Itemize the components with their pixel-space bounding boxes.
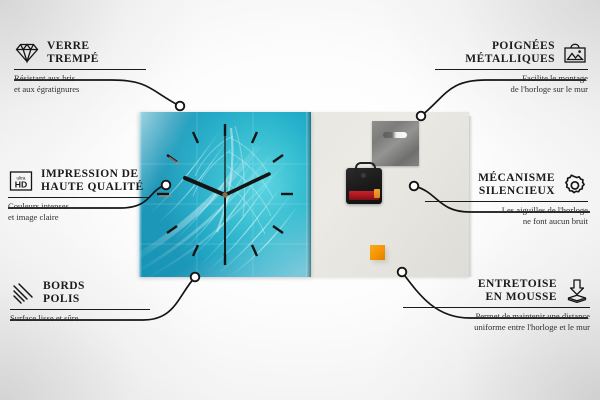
callout-rule: [435, 69, 588, 70]
callout-title-line1: MÉCANISME: [478, 172, 555, 185]
callout-sub-line2: et image claire: [8, 212, 150, 223]
callout-foam-spacer: ENTRETOISE EN MOUSSE Permet de maintenir…: [403, 278, 590, 333]
callout-sub-line1: Résistant aux bris: [14, 73, 146, 84]
callout-title-line1: POIGNÉES: [465, 40, 555, 53]
callout-title-line2: POLIS: [43, 293, 85, 306]
foam-spacer: [370, 245, 385, 260]
callout-title-line2: TREMPÉ: [47, 53, 99, 66]
product-image: [139, 112, 469, 278]
callout-sub-line1: Surface lisse et sûre: [10, 313, 150, 324]
callout-rule: [8, 197, 150, 198]
callout-title-line2: HAUTE QUALITÉ: [41, 181, 144, 194]
callout-sub-line2: de l'horloge sur le mur: [435, 84, 588, 95]
callout-tempered-glass: VERRE TREMPÉ Résistant aux bris et aux é…: [14, 40, 146, 95]
callout-rule: [14, 69, 146, 70]
callout-title-line2: EN MOUSSE: [478, 291, 557, 304]
polished-edges-icon: [10, 280, 36, 306]
callout-sub-line1: Permet de maintenir une distance: [403, 311, 590, 322]
clock-mechanism: [346, 168, 382, 204]
mechanism-hook: [355, 162, 376, 173]
callout-print-quality: ultra HD IMPRESSION DE HAUTE QUALITÉ Cou…: [8, 168, 150, 223]
diamond-icon: [14, 40, 40, 66]
infographic-canvas: VERRE TREMPÉ Résistant aux bris et aux é…: [0, 0, 600, 400]
callout-title-line2: MÉTALLIQUES: [465, 53, 555, 66]
callout-title-line1: BORDS: [43, 280, 85, 293]
callout-sub-line1: Couleurs intenses: [8, 201, 150, 212]
foam-spacer-icon: [564, 278, 590, 304]
callout-metal-handles: POIGNÉES MÉTALLIQUES Facilite le montage…: [435, 40, 588, 95]
glass-right-edge: [306, 112, 311, 277]
hanger-slot: [383, 132, 407, 138]
clock-face: [139, 112, 311, 277]
callout-sub-line1: Facilite le montage: [435, 73, 588, 84]
ultra-hd-big-label: HD: [15, 180, 27, 190]
callout-title-line2: SILENCIEUX: [478, 185, 555, 198]
metal-hanger-plate: [372, 121, 419, 166]
mechanism-shaft: [361, 173, 366, 178]
callout-title-line1: ENTRETOISE: [478, 278, 557, 291]
callout-title-line1: VERRE: [47, 40, 99, 53]
callout-rule: [10, 309, 150, 310]
minute-hand: [225, 174, 269, 195]
callout-rule: [403, 307, 590, 308]
callout-sub-line2: uniforme entre l'horloge et le mur: [403, 322, 590, 333]
callout-silent-mechanism: MÉCANISME SILENCIEUX Les aiguilles de l'…: [425, 172, 588, 227]
gear-icon: [562, 172, 588, 198]
callout-sub-line2: ne font aucun bruit: [425, 216, 588, 227]
callout-sub-line2: et aux égratignures: [14, 84, 146, 95]
callout-rule: [425, 201, 588, 202]
clock-center-cap: [222, 192, 227, 197]
marker-glass: [176, 102, 185, 111]
callout-sub-line1: Les aiguilles de l'horloge: [425, 205, 588, 216]
callout-title-line1: IMPRESSION DE: [41, 168, 144, 181]
battery: [349, 191, 379, 200]
callout-polished-edges: BORDS POLIS Surface lisse et sûre: [10, 280, 150, 324]
ultra-hd-icon: ultra HD: [8, 168, 34, 194]
hour-hand: [185, 178, 225, 195]
picture-frame-icon: [562, 40, 588, 66]
tempered-glass-panel: [139, 112, 311, 277]
